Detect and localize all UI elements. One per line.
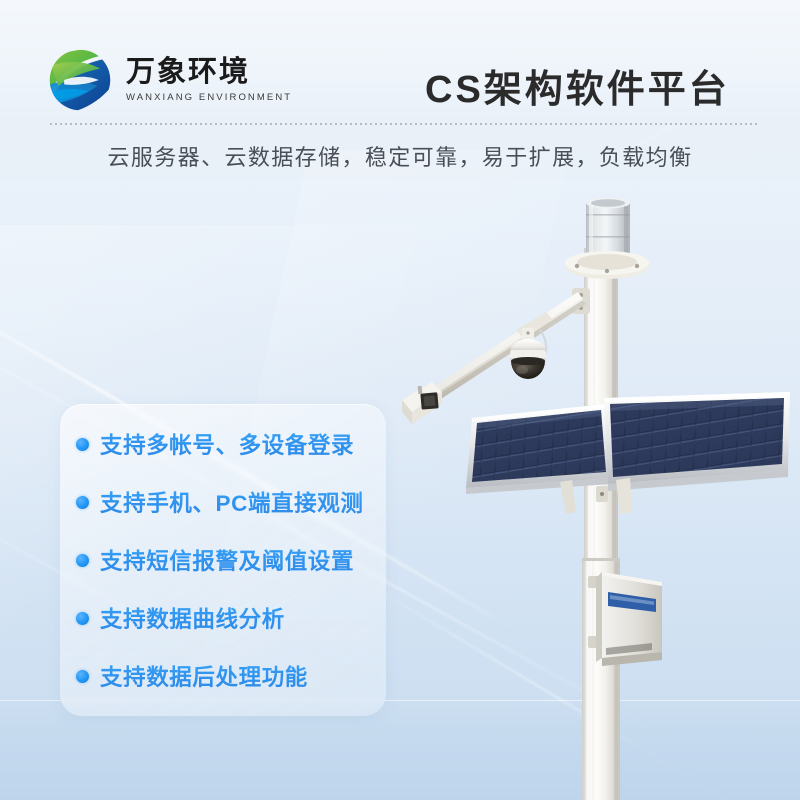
brand-name-cn: 万象环境 (126, 57, 292, 87)
feature-list-card: 支持多帐号、多设备登录 支持手机、PC端直接观测 支持短信报警及阈值设置 支持数… (60, 404, 386, 716)
panel-mount-clamp (596, 486, 608, 502)
arm-end-sensor (402, 382, 442, 424)
support-pole (582, 248, 620, 800)
mounting-flange (565, 251, 649, 279)
feature-label: 支持手机、PC端直接观测 (100, 486, 363, 518)
bullet-dot-icon (76, 438, 89, 451)
brand-logo: 万象环境 WANXIANG ENVIRONMENT (44, 44, 292, 116)
solar-panel-right (604, 392, 790, 514)
page-subtitle: 云服务器、云数据存储，稳定可靠，易于扩展，负载均衡 (0, 140, 800, 172)
feature-label: 支持短信报警及阈值设置 (100, 544, 354, 576)
list-item: 支持多帐号、多设备登录 (76, 422, 372, 466)
page-title: CS架构软件平台 (425, 58, 730, 113)
light-streak-lower (329, 560, 776, 800)
list-item: 支持数据后处理功能 (76, 654, 372, 698)
brand-name-en: WANXIANG ENVIRONMENT (126, 92, 292, 103)
bullet-dot-icon (76, 554, 89, 567)
ptz-dome-camera (510, 312, 553, 379)
control-box (588, 572, 662, 666)
list-item: 支持手机、PC端直接观测 (76, 480, 372, 524)
feature-label: 支持数据曲线分析 (100, 602, 285, 634)
bullet-dot-icon (76, 496, 89, 509)
list-item: 支持数据曲线分析 (76, 596, 372, 640)
globe-logo-icon (44, 44, 116, 116)
solar-panel-left (466, 404, 612, 514)
bullet-dot-icon (76, 612, 89, 625)
feature-label: 支持多帐号、多设备登录 (100, 428, 354, 460)
cross-arm (410, 288, 590, 414)
poster-header: 万象环境 WANXIANG ENVIRONMENT CS架构软件平台 (0, 0, 800, 125)
bullet-dot-icon (76, 670, 89, 683)
rain-gauge-sensor (586, 198, 630, 261)
list-item: 支持短信报警及阈值设置 (76, 538, 372, 582)
header-divider (50, 123, 760, 125)
poster-canvas: 万象环境 WANXIANG ENVIRONMENT CS架构软件平台 云服务器、… (0, 0, 800, 800)
feature-label: 支持数据后处理功能 (100, 660, 308, 692)
